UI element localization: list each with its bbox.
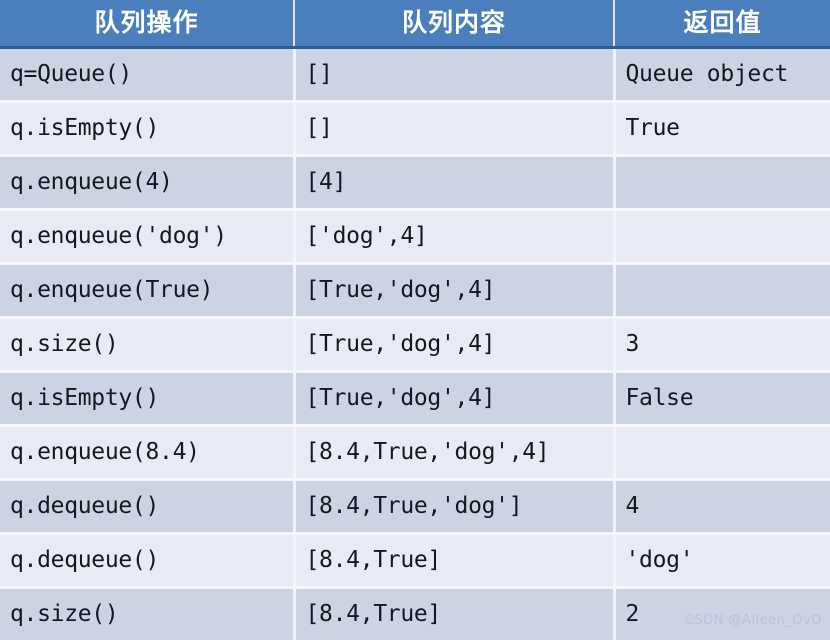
table-row: q=Queue()[]Queue object xyxy=(0,47,830,101)
cell-operation: q.enqueue(4) xyxy=(0,155,294,209)
cell-contents: [True,'dog',4] xyxy=(294,263,614,317)
cell-operation: q.dequeue() xyxy=(0,533,294,587)
cell-returned: 3 xyxy=(614,317,830,371)
cell-returned: True xyxy=(614,101,830,155)
table-row: q.enqueue(True)[True,'dog',4] xyxy=(0,263,830,317)
table-row: q.isEmpty()[True,'dog',4]False xyxy=(0,371,830,425)
header-row: 队列操作 队列内容 返回值 xyxy=(0,0,830,47)
cell-contents: [8.4,True] xyxy=(294,587,614,640)
cell-returned xyxy=(614,209,830,263)
table-row: q.enqueue(8.4)[8.4,True,'dog',4] xyxy=(0,425,830,479)
cell-operation: q.size() xyxy=(0,317,294,371)
cell-operation: q.isEmpty() xyxy=(0,101,294,155)
cell-returned: 'dog' xyxy=(614,533,830,587)
table: 队列操作 队列内容 返回值 q=Queue()[]Queue objectq.i… xyxy=(0,0,830,640)
cell-contents: [8.4,True,'dog',4] xyxy=(294,425,614,479)
cell-returned: False xyxy=(614,371,830,425)
table-row: q.dequeue()[8.4,True]'dog' xyxy=(0,533,830,587)
cell-operation: q.isEmpty() xyxy=(0,371,294,425)
cell-contents: [8.4,True,'dog'] xyxy=(294,479,614,533)
table-row: q.isEmpty()[]True xyxy=(0,101,830,155)
cell-contents: ['dog',4] xyxy=(294,209,614,263)
table-body: q=Queue()[]Queue objectq.isEmpty()[]True… xyxy=(0,47,830,640)
table-header: 队列操作 队列内容 返回值 xyxy=(0,0,830,47)
table-row: q.size()[True,'dog',4]3 xyxy=(0,317,830,371)
cell-returned: 4 xyxy=(614,479,830,533)
column-header-returned: 返回值 xyxy=(614,0,830,47)
cell-returned xyxy=(614,155,830,209)
cell-operation: q=Queue() xyxy=(0,47,294,101)
table-row: q.enqueue('dog')['dog',4] xyxy=(0,209,830,263)
cell-operation: q.size() xyxy=(0,587,294,640)
cell-operation: q.dequeue() xyxy=(0,479,294,533)
cell-contents: [8.4,True] xyxy=(294,533,614,587)
cell-returned xyxy=(614,263,830,317)
table-row: q.dequeue()[8.4,True,'dog']4 xyxy=(0,479,830,533)
cell-contents: [True,'dog',4] xyxy=(294,371,614,425)
cell-contents: [4] xyxy=(294,155,614,209)
cell-operation: q.enqueue(True) xyxy=(0,263,294,317)
column-header-contents: 队列内容 xyxy=(294,0,614,47)
cell-operation: q.enqueue('dog') xyxy=(0,209,294,263)
table-row: q.enqueue(4)[4] xyxy=(0,155,830,209)
queue-operations-table: 队列操作 队列内容 返回值 q=Queue()[]Queue objectq.i… xyxy=(0,0,830,640)
cell-contents: [] xyxy=(294,101,614,155)
column-header-operation: 队列操作 xyxy=(0,0,294,47)
cell-returned: 2 xyxy=(614,587,830,640)
cell-returned: Queue object xyxy=(614,47,830,101)
cell-contents: [] xyxy=(294,47,614,101)
cell-contents: [True,'dog',4] xyxy=(294,317,614,371)
cell-operation: q.enqueue(8.4) xyxy=(0,425,294,479)
cell-returned xyxy=(614,425,830,479)
table-row: q.size()[8.4,True]2 xyxy=(0,587,830,640)
